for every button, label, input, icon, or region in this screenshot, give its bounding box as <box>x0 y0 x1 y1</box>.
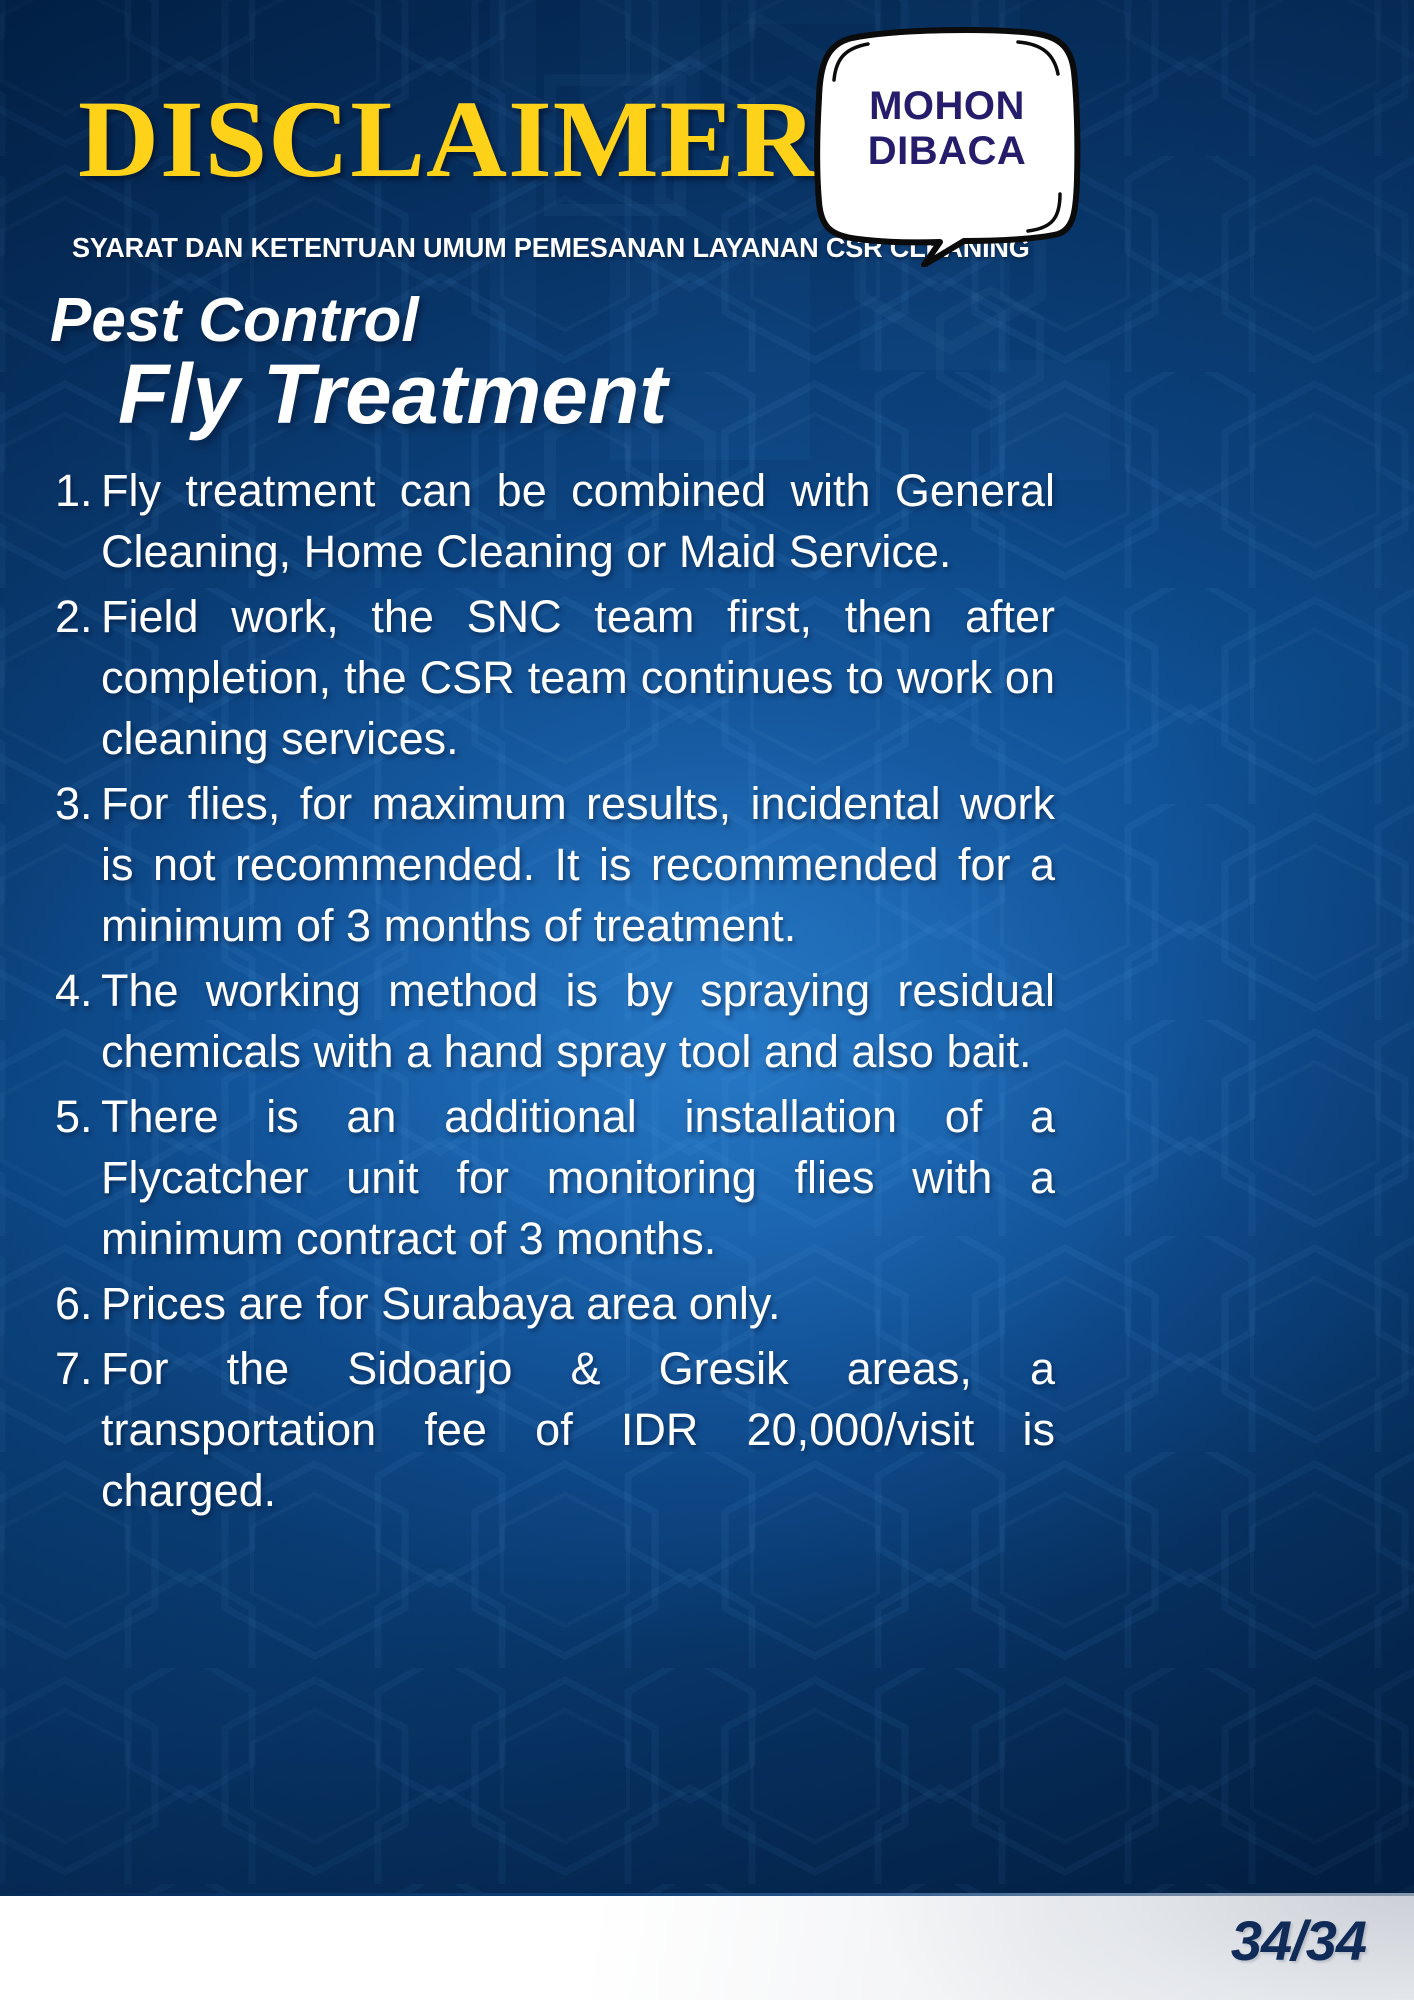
list-item: 1. Fly treatment can be combined with Ge… <box>55 460 1055 582</box>
page-number: 34/34 <box>1231 1913 1366 1969</box>
list-item-number: 6. <box>55 1273 101 1334</box>
list-item-text: Field work, the SNC team first, then aft… <box>101 586 1055 769</box>
list-item-number: 2. <box>55 586 101 647</box>
list-item-text: For the Sidoarjo & Gresik areas, a trans… <box>101 1338 1055 1521</box>
list-item-number: 4. <box>55 960 101 1021</box>
list-item-text: Fly treatment can be combined with Gener… <box>101 460 1055 582</box>
list-item-number: 1. <box>55 460 101 521</box>
list-item-text: The working method is by spraying residu… <box>101 960 1055 1082</box>
list-item-text: For flies, for maximum results, incident… <box>101 773 1055 956</box>
list-item: 4. The working method is by spraying res… <box>55 960 1055 1082</box>
bubble-line-2: DIBACA <box>812 129 1082 174</box>
list-item-text: There is an additional installation of a… <box>101 1086 1055 1269</box>
list-item-number: 7. <box>55 1338 101 1399</box>
list-item: 5. There is an additional installation o… <box>55 1086 1055 1269</box>
list-item: 2. Field work, the SNC team first, then … <box>55 586 1055 769</box>
main-heading: Fly Treatment <box>118 352 667 436</box>
list-item: 6. Prices are for Surabaya area only. <box>55 1273 1055 1334</box>
bubble-line-1: MOHON <box>812 84 1082 129</box>
blue-background: DISCLAIMER SYARAT DAN KETENTUAN UMUM PEM… <box>0 0 1414 1893</box>
speech-bubble-text: MOHON DIBACA <box>812 84 1082 174</box>
list-item-number: 5. <box>55 1086 101 1147</box>
service-category-title: Pest Control <box>50 290 419 352</box>
poster-page: DISCLAIMER SYARAT DAN KETENTUAN UMUM PEM… <box>0 0 1414 2000</box>
list-item: 3. For flies, for maximum results, incid… <box>55 773 1055 956</box>
list-item-text: Prices are for Surabaya area only. <box>101 1273 1055 1334</box>
speech-bubble: MOHON DIBACA <box>812 22 1082 267</box>
terms-list: 1. Fly treatment can be combined with Ge… <box>55 460 1055 1525</box>
list-item-number: 3. <box>55 773 101 834</box>
list-item: 7. For the Sidoarjo & Gresik areas, a tr… <box>55 1338 1055 1521</box>
poster-footer: 34/34 <box>0 1893 1414 2000</box>
page-title: DISCLAIMER <box>78 84 818 194</box>
